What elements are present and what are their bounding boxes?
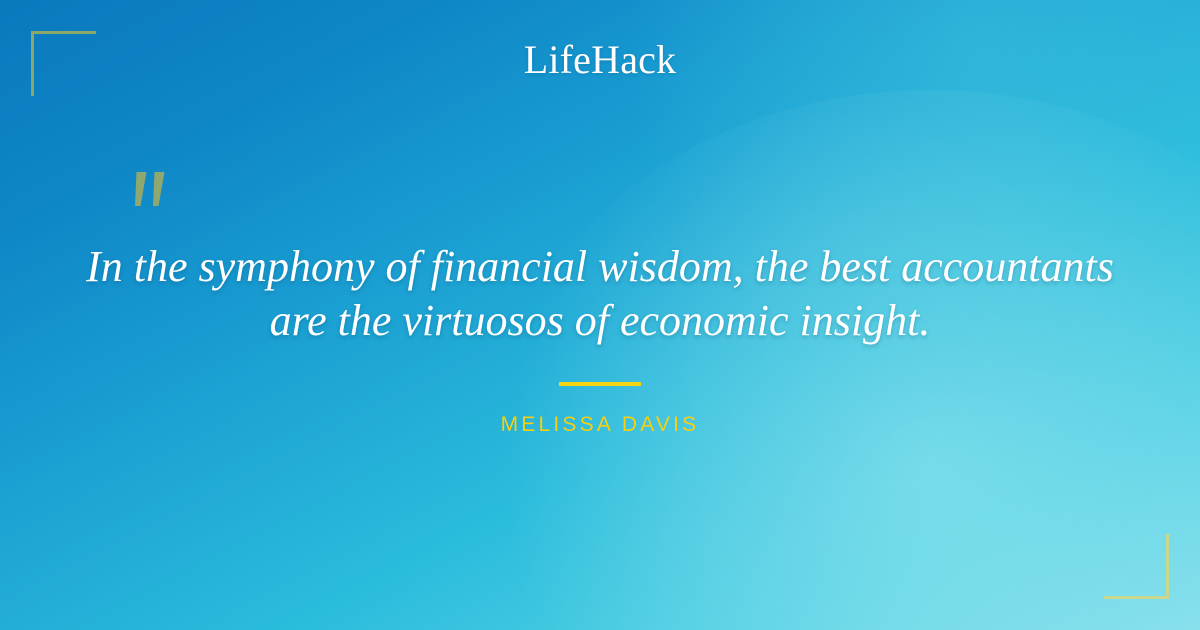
quote-line-2: are the virtuosos of economic insight. (60, 294, 1140, 348)
quote-text: In the symphony of financial wisdom, the… (60, 240, 1140, 348)
quote-line-1: In the symphony of financial wisdom, the… (60, 240, 1140, 294)
quotation-mark-icon (126, 168, 186, 224)
brand-logo: LifeHack (0, 38, 1200, 82)
quote-card: LifeHack In the symphony of financial wi… (0, 0, 1200, 630)
background-glow (480, 90, 1200, 630)
author-name: MELISSA DAVIS (0, 413, 1200, 437)
author-divider (559, 382, 641, 386)
corner-bracket-bottom-right-icon (1104, 534, 1169, 599)
